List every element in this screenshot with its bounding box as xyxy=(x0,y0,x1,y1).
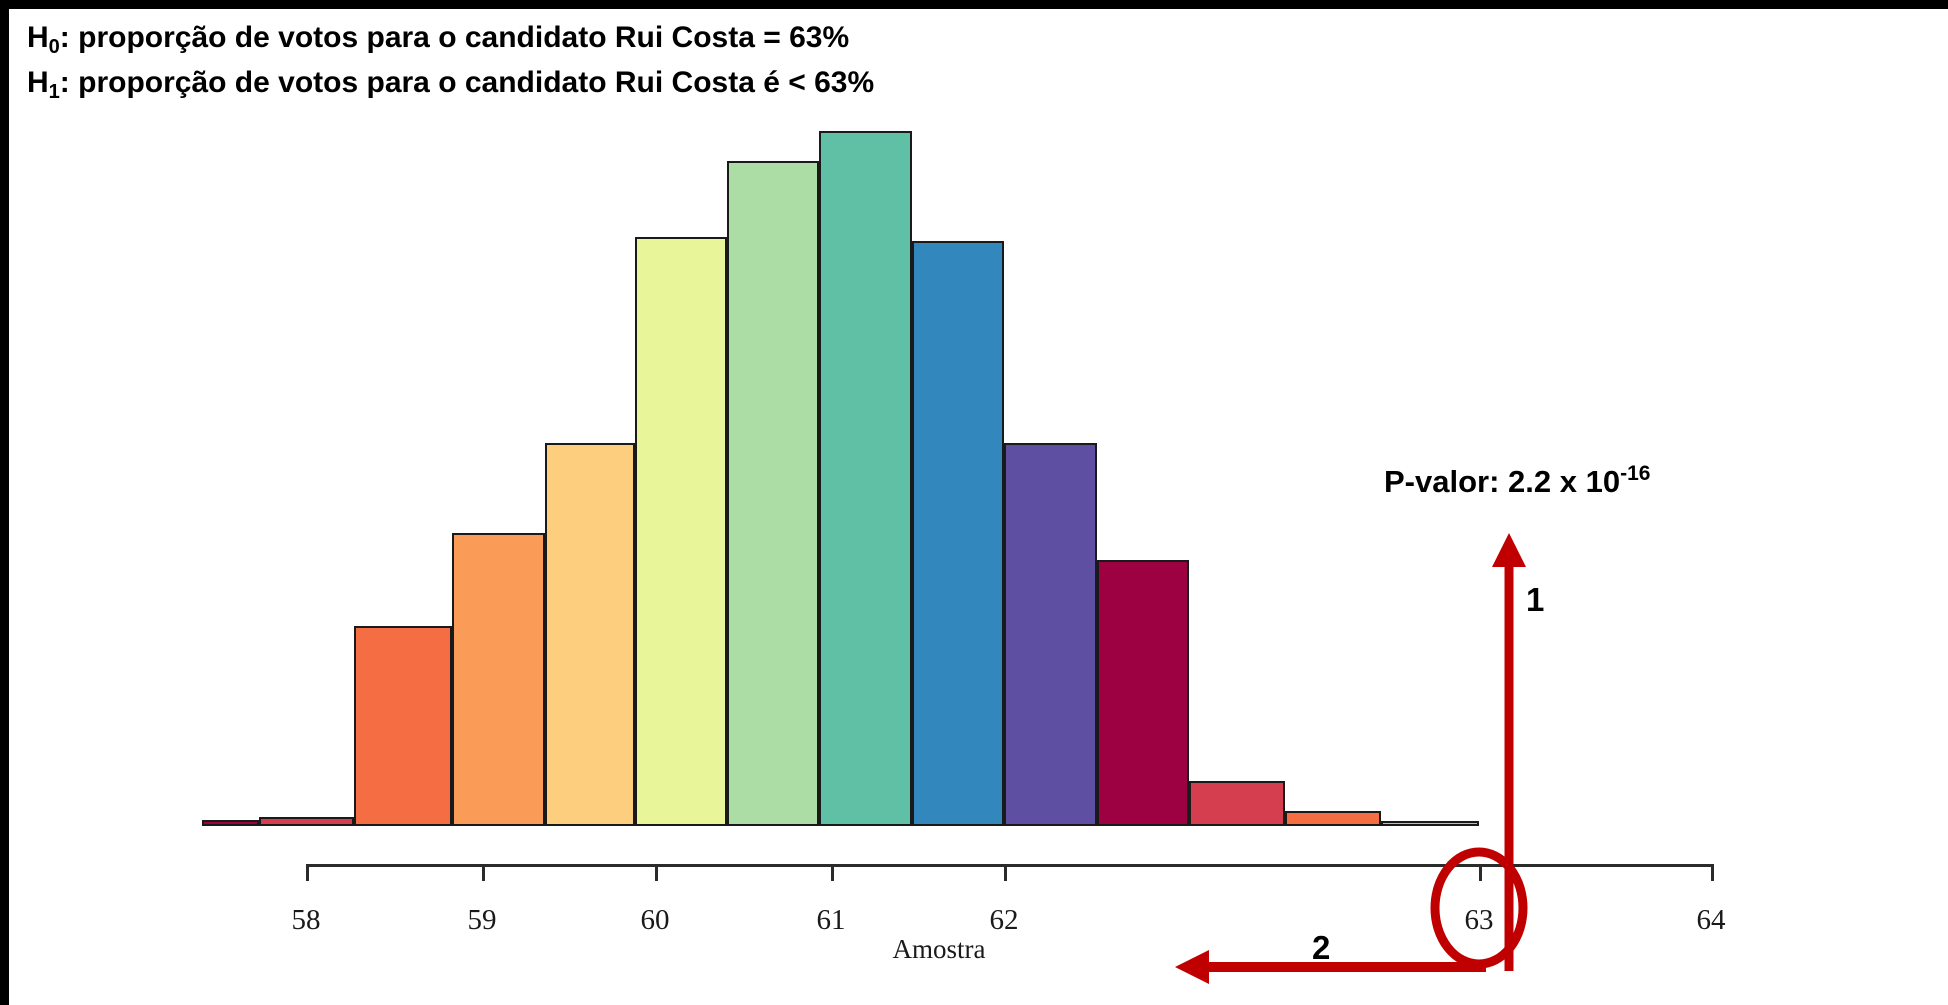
x-axis-title: Amostra xyxy=(893,934,986,965)
x-axis-tick xyxy=(655,864,658,881)
histogram-bar xyxy=(1097,560,1189,826)
histogram-bar xyxy=(1004,443,1097,826)
x-axis-tick xyxy=(1711,864,1714,881)
histogram-bar xyxy=(452,533,545,826)
histogram-bar xyxy=(1285,811,1381,826)
histogram-bar xyxy=(259,817,354,826)
histogram-bar xyxy=(354,626,452,826)
histogram-bar xyxy=(545,443,635,826)
x-axis-tick-label: 64 xyxy=(1697,904,1726,937)
histogram-bar xyxy=(912,241,1004,826)
x-axis-tick-label: 60 xyxy=(641,904,670,937)
p-value-annotation: P-valor: 2.2 x 10-16 xyxy=(1384,464,1650,500)
slide-canvas: H0: proporção de votos para o candidato … xyxy=(0,0,1948,1005)
histogram-bar xyxy=(202,820,259,826)
x-axis-tick-label: 58 xyxy=(292,904,321,937)
x-axis-tick xyxy=(482,864,485,881)
histogram-bar xyxy=(1381,821,1479,826)
histogram-bar xyxy=(727,161,819,826)
x-axis-tick xyxy=(831,864,834,881)
step-label-two: 2 xyxy=(1312,929,1330,967)
step-label-one: 1 xyxy=(1526,581,1544,619)
x-axis-tick-label: 63 xyxy=(1465,904,1494,937)
x-axis-tick xyxy=(306,864,309,881)
x-axis-tick-label: 62 xyxy=(990,904,1019,937)
histogram-plot: 58596061626364 Amostra xyxy=(9,9,1948,1005)
x-axis-tick-label: 59 xyxy=(468,904,497,937)
x-axis-tick xyxy=(1004,864,1007,881)
p-value-exponent: -16 xyxy=(1620,462,1650,485)
x-axis-line xyxy=(306,864,1711,867)
histogram-bar xyxy=(819,131,912,826)
histogram-bar xyxy=(635,237,727,826)
histogram-bar xyxy=(1189,781,1285,826)
x-axis-tick xyxy=(1479,864,1482,881)
x-axis-tick-label: 61 xyxy=(817,904,846,937)
p-value-text: P-valor: 2.2 x 10 xyxy=(1384,464,1620,499)
